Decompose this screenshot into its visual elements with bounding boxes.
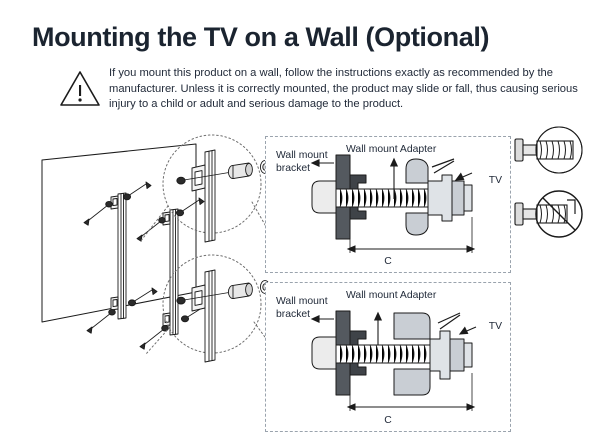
- label-wall-mount-adapter-top: Wall mount Adapter: [346, 143, 436, 156]
- label-wall-mount-adapter-bottom: Wall mount Adapter: [346, 289, 436, 302]
- warning-text: If you mount this product on a wall, fol…: [109, 66, 591, 113]
- detail-box-bottom: Wall mount bracket Wall mount Adapter TV…: [265, 282, 511, 432]
- label-wall-mount-bracket-top: Wall mount bracket: [276, 149, 346, 175]
- label-wall-mount-bracket-bottom: Wall mount bracket: [276, 295, 346, 321]
- detail-box-top: Wall mount bracket Wall mount Adapter TV…: [265, 136, 511, 273]
- screw-correct-icon: [515, 127, 582, 173]
- warning-triangle-icon: [58, 69, 102, 109]
- label-tv-bottom: TV: [489, 320, 502, 333]
- label-dimension-c-top: C: [266, 255, 510, 268]
- label-tv-top: TV: [489, 174, 502, 187]
- label-dimension-c-bottom: C: [266, 414, 510, 427]
- page-title: Mounting the TV on a Wall (Optional): [32, 20, 489, 54]
- screw-prohibited-icon: [515, 191, 582, 237]
- warning-block: If you mount this product on a wall, fol…: [58, 66, 588, 118]
- page-root: Mounting the TV on a Wall (Optional) If …: [0, 0, 615, 444]
- artwork-area: Wall mount bracket Wall mount Adapter TV…: [0, 122, 615, 444]
